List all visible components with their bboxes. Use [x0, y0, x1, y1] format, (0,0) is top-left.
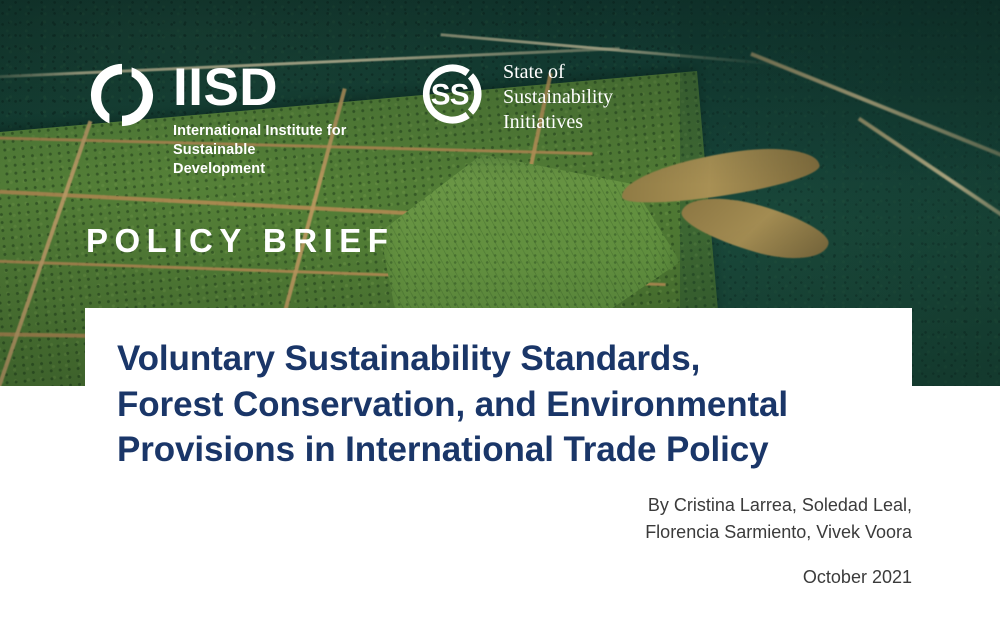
title-card: Voluntary Sustainability Standards, Fore… [85, 308, 912, 493]
ssi-mark-letters: SS [431, 78, 469, 111]
policy-brief-kicker: POLICY BRIEF [86, 222, 394, 260]
iisd-wordmark: IISD [173, 64, 351, 113]
logo-lockup: IISD International Institute for Sustain… [85, 56, 613, 180]
iisd-ring-icon [85, 58, 159, 132]
page-title: Voluntary Sustainability Standards, Fore… [117, 336, 872, 473]
byline-block: By Cristina Larrea, Soledad Leal, Floren… [492, 492, 912, 588]
publication-date: October 2021 [492, 567, 912, 588]
iisd-text-block: IISD International Institute for Sustain… [173, 56, 351, 180]
iisd-tagline: International Institute for Sustainable … [173, 122, 351, 180]
ssi-wordmark: State of Sustainability Initiatives [503, 56, 613, 135]
iisd-logo[interactable]: IISD International Institute for Sustain… [85, 56, 351, 180]
ssi-logo[interactable]: SS State of Sustainability Initiatives [415, 56, 613, 135]
cover-page: IISD International Institute for Sustain… [0, 0, 1000, 620]
ssi-ring-icon: SS [415, 57, 489, 131]
author-list: By Cristina Larrea, Soledad Leal, Floren… [492, 492, 912, 545]
